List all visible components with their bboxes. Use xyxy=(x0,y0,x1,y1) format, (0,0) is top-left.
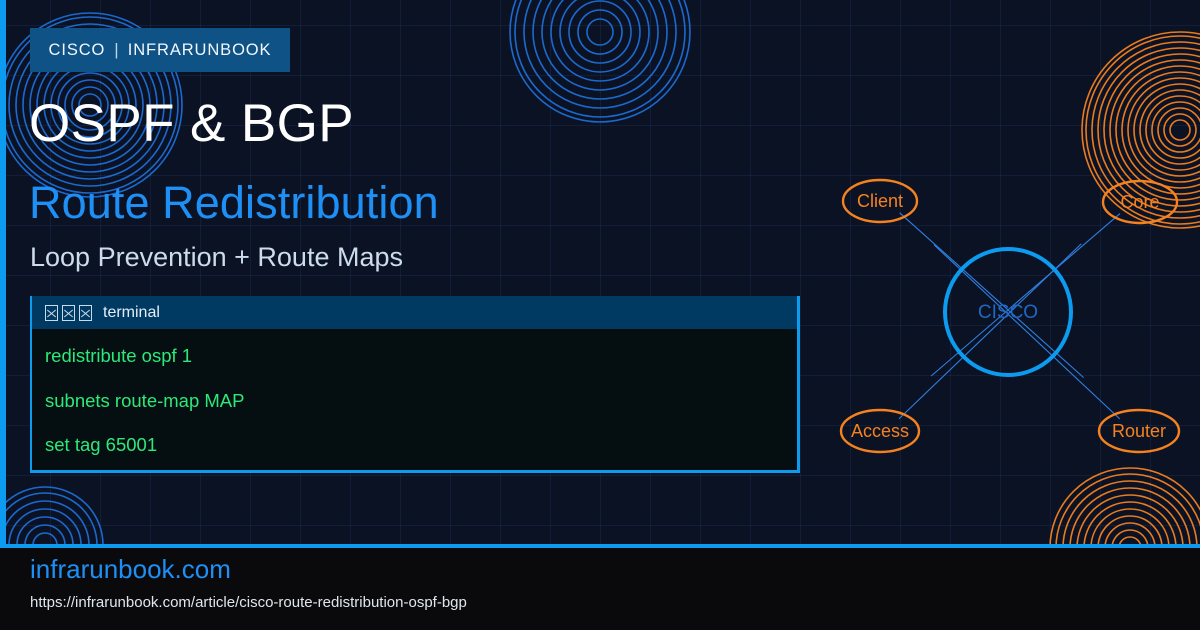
social-card-canvas: CISCO | INFRARUNBOOK OSPF & BGP Route Re… xyxy=(0,0,1200,630)
terminal-code-line: redistribute ospf 1 xyxy=(45,347,797,366)
terminal-code-line: set tag 65001 xyxy=(45,436,797,455)
badge-brand-label: CISCO xyxy=(49,41,106,60)
topology-node-router: Router xyxy=(1099,410,1179,452)
footer-article-url: https://infrarunbook.com/article/cisco-r… xyxy=(30,595,467,610)
footer-site-name: infrarunbook.com xyxy=(30,556,231,582)
terminal-title-bar: terminal xyxy=(32,296,797,329)
terminal-window: terminal redistribute ospf 1subnets rout… xyxy=(30,296,800,473)
left-accent-bar xyxy=(0,0,6,548)
badge-separator: | xyxy=(114,40,118,60)
topology-node-access: Access xyxy=(841,410,919,452)
rings-top-center xyxy=(510,0,690,122)
window-dot-icon-3 xyxy=(79,305,92,321)
badge-site-label: INFRARUNBOOK xyxy=(128,41,272,60)
network-topology-diagram: CISCOClientCoreAccessRouter xyxy=(810,150,1200,490)
terminal-code-line: subnets route-map MAP xyxy=(45,392,797,411)
terminal-body: redistribute ospf 1subnets route-map MAP… xyxy=(32,329,797,470)
page-tagline: Loop Prevention + Route Maps xyxy=(30,244,403,271)
window-dot-icon-1 xyxy=(45,305,58,321)
page-title: OSPF & BGP xyxy=(29,97,354,150)
topology-node-label: Client xyxy=(857,191,903,211)
topology-node-client: Client xyxy=(843,180,917,222)
topology-node-label: Core xyxy=(1120,192,1159,212)
page-subtitle: Route Redistribution xyxy=(29,180,439,225)
topology-node-label: Router xyxy=(1112,421,1166,441)
topology-hub-node: CISCO xyxy=(945,249,1071,375)
topology-node-label: Access xyxy=(851,421,909,441)
window-dot-icon-2 xyxy=(62,305,75,321)
topology-node-core: Core xyxy=(1103,181,1177,223)
terminal-window-title: terminal xyxy=(103,304,160,322)
topology-hub-label: CISCO xyxy=(978,302,1038,323)
brand-badge: CISCO | INFRARUNBOOK xyxy=(30,28,290,72)
